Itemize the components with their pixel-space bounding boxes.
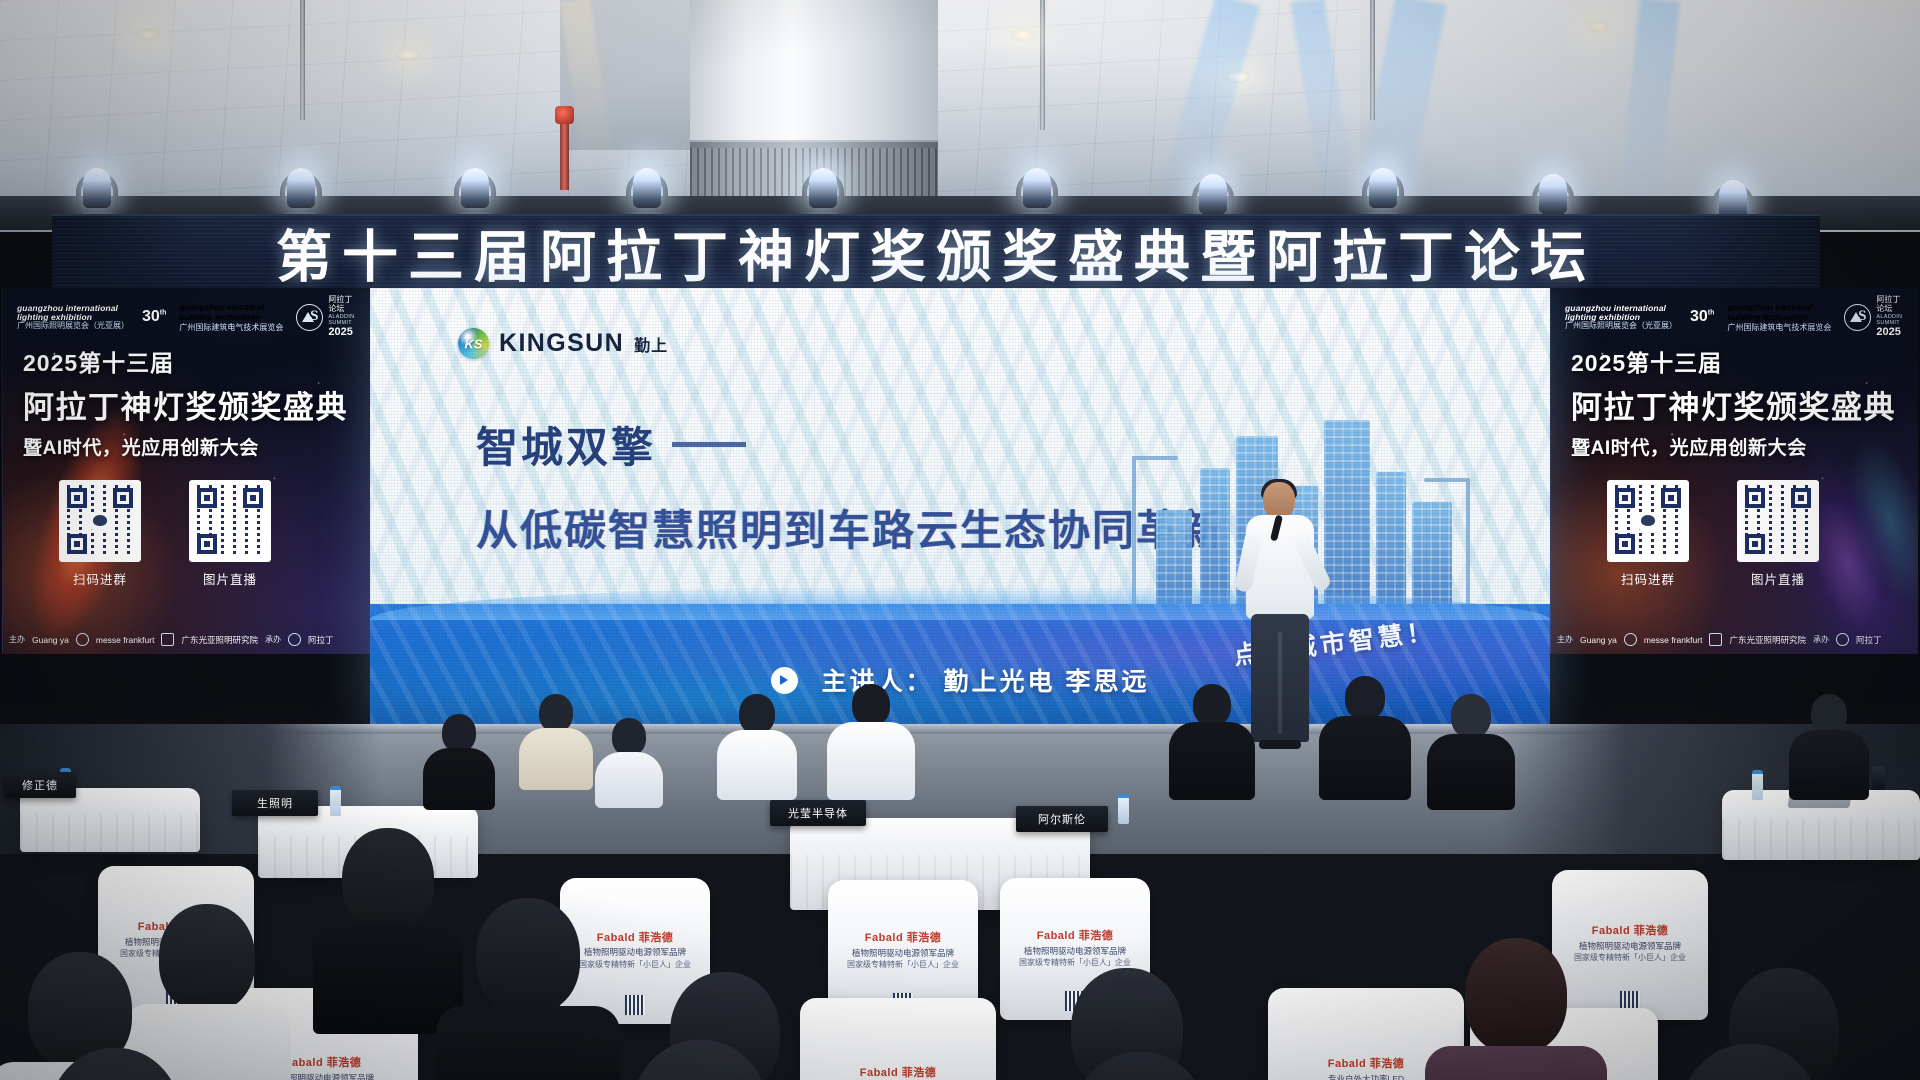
person-head <box>1465 938 1567 1054</box>
person-torso <box>827 722 915 800</box>
audience-person <box>1650 1044 1850 1080</box>
person-torso <box>423 748 495 810</box>
audience-person <box>1790 694 1868 802</box>
audience-person <box>718 694 796 802</box>
ceiling-downlight <box>135 28 161 41</box>
qr-code-row: 扫码进群 图片直播 <box>59 480 271 588</box>
person-head <box>1451 694 1491 738</box>
chair-cover-text: Fabald 菲浩德 植物照明驱动电源领军品牌 国家级专精特新「小巨人」企业 <box>816 1066 981 1080</box>
aladdin-summit-logo: 阿拉丁论坛 ALADDIN SUMMIT 2025 <box>1844 296 1908 338</box>
ceiling-downlight <box>1225 70 1251 83</box>
side-banner-headline: 2025第十三届 阿拉丁神灯奖颁奖盛典 暨AI时代，光应用创新大会 <box>23 344 358 460</box>
building-shape <box>1412 502 1452 606</box>
aladdin-summit-logo: 阿拉丁论坛 ALADDIN SUMMIT 2025 <box>296 296 360 338</box>
chair-cover-text: Fabald 菲浩德 植物照明驱动电源领军品牌 国家级专精特新「小巨人」企业 <box>840 931 966 971</box>
person-head <box>159 904 255 1012</box>
slide-title-line1-row: 智城双擎 <box>476 414 1376 475</box>
person-head <box>630 1040 770 1080</box>
qr-code-row: 扫码进群 图片直播 <box>1607 480 1819 588</box>
banner-footer-sponsors: 主办 Guang ya messe frankfurt 广东光亚照明研究院 承办… <box>9 633 364 646</box>
banner-edge-shade <box>1680 216 1820 290</box>
wechat-qr-icon[interactable] <box>59 480 141 562</box>
gebt-logo: guangzhou electrical building technology… <box>1727 302 1831 333</box>
ceiling-downlight <box>1585 20 1611 33</box>
host-label: 主办 <box>9 634 25 645</box>
banner-year-line: 2025第十三届 <box>1571 344 1906 378</box>
aladdin-icon <box>288 633 301 646</box>
qr-code-group[interactable]: 图片直播 <box>1737 480 1819 588</box>
person-torso <box>519 728 593 790</box>
chair-cover-text: Fabald 菲浩德 专业户外大功率LED 植物照明驱动电源解决方案 <box>1284 1057 1449 1080</box>
qr-caption: 扫码进群 <box>59 569 141 588</box>
banner-sub-line: 暨AI时代，光应用创新大会 <box>23 433 358 460</box>
audience-person <box>596 718 662 804</box>
person-torso <box>717 730 797 800</box>
wave-divider <box>370 586 1550 620</box>
host-org: 广东光亚照明研究院 <box>1729 634 1806 646</box>
water-bottle <box>1118 794 1129 824</box>
gil-logo: guangzhou international lighting exhibit… <box>17 304 129 331</box>
person-head <box>739 694 775 734</box>
livephoto-qr-icon[interactable] <box>189 480 271 562</box>
person-head <box>342 828 434 932</box>
organizer-org: 阿拉丁 <box>308 634 334 646</box>
banner-year-line: 2025第十三届 <box>23 344 358 378</box>
institute-icon <box>1709 633 1722 646</box>
person-head <box>1193 684 1231 726</box>
qr-caption: 扫码进群 <box>1607 569 1689 588</box>
ceiling-downlight <box>395 48 421 61</box>
host-org: messe frankfurt <box>1644 635 1703 645</box>
photo-scene: 第十三届阿拉丁神灯奖颁奖盛典暨阿拉丁论坛 guangzhou internati… <box>0 0 1920 1080</box>
audience-person <box>1428 694 1514 810</box>
person-torso <box>436 1006 620 1080</box>
qr-caption: 图片直播 <box>189 569 271 588</box>
audience-person <box>448 898 608 1080</box>
side-banner-right: guangzhou international lighting exhibit… <box>1550 288 1918 654</box>
person-torso <box>1425 1046 1607 1080</box>
hanger-rod <box>1040 0 1045 130</box>
anniversary-badge: 30th <box>1690 308 1714 326</box>
banner-edge-shade <box>52 216 192 290</box>
building-shape <box>1376 472 1406 606</box>
hanger-rod <box>1370 0 1375 120</box>
banner-main-line: 阿拉丁神灯奖颁奖盛典 <box>1571 382 1906 427</box>
person-torso <box>1169 722 1255 800</box>
person-head <box>476 898 580 1014</box>
audience-person <box>1320 676 1410 802</box>
person-torso <box>1319 716 1411 800</box>
audience-person <box>318 828 458 1018</box>
play-arrow-icon <box>771 667 798 694</box>
mobile-phone <box>1872 766 1885 790</box>
person-torso <box>1789 730 1869 800</box>
host-label: 主办 <box>1557 634 1573 645</box>
person-head <box>1345 676 1385 720</box>
table-nameplate: 生照明 <box>232 790 318 816</box>
anniversary-badge: 30th <box>142 308 166 326</box>
water-bottle <box>1752 770 1763 800</box>
host-org: messe frankfurt <box>96 635 155 645</box>
audience-person <box>1040 1052 1240 1080</box>
qr-code-group[interactable]: 扫码进群 <box>1607 480 1689 588</box>
audience-person <box>424 714 494 806</box>
banner-sub-line: 暨AI时代，光应用创新大会 <box>1571 433 1906 460</box>
banner-main-line: 阿拉丁神灯奖颁奖盛典 <box>23 382 358 427</box>
audience-person <box>828 684 914 802</box>
aladdin-summit-mark-icon <box>1844 304 1871 331</box>
presenter-head <box>1263 482 1295 518</box>
stage-header-banner: 第十三届阿拉丁神灯奖颁奖盛典暨阿拉丁论坛 <box>52 214 1820 290</box>
table-nameplate: 修正德 <box>4 772 76 798</box>
person-head <box>1678 1044 1822 1080</box>
person-torso <box>595 752 663 808</box>
person-head <box>47 1048 183 1080</box>
audience-person <box>1170 684 1254 802</box>
person-head <box>1070 1052 1210 1080</box>
kingsun-wordmark: KINGSUN <box>499 329 624 358</box>
person-head <box>539 694 573 732</box>
gebt-logo: guangzhou electrical building technology… <box>179 302 283 333</box>
table-nameplate: 光莹半导体 <box>770 800 866 826</box>
sprinkler-pipe <box>560 120 569 190</box>
person-head <box>1811 694 1847 734</box>
header-banner-title: 第十三届阿拉丁神灯奖颁奖盛典暨阿拉丁论坛 <box>52 214 1820 290</box>
kingsun-chinese-name: 勤上 <box>634 332 668 356</box>
qr-caption: 图片直播 <box>1737 569 1819 588</box>
audience-person <box>520 694 592 790</box>
ceiling-duct <box>560 0 696 150</box>
aladdin-icon <box>1836 633 1849 646</box>
institute-icon <box>161 633 174 646</box>
side-banner-left: guangzhou international lighting exhibit… <box>2 288 370 654</box>
exhibition-logo-row: guangzhou international lighting exhibit… <box>1565 300 1908 334</box>
banner-footer-sponsors: 主办 Guang ya messe frankfurt 广东光亚照明研究院 承办… <box>1557 633 1912 646</box>
host-org: 广东光亚照明研究院 <box>181 634 258 646</box>
audience-person <box>600 1040 800 1080</box>
audience-person <box>1438 938 1594 1080</box>
chair-cover: Fabald 菲浩德 植物照明驱动电源领军品牌 国家级专精特新「小巨人」企业 <box>800 998 996 1080</box>
water-bottle <box>330 786 341 816</box>
qr-code-group[interactable]: 扫码进群 <box>59 480 141 588</box>
person-head <box>612 718 646 756</box>
side-banner-headline: 2025第十三届 阿拉丁神灯奖颁奖盛典 暨AI时代，光应用创新大会 <box>1571 344 1906 460</box>
table-nameplate: 阿尔斯伦 <box>1016 806 1108 832</box>
gil-logo: guangzhou international lighting exhibit… <box>1565 304 1677 331</box>
messe-frankfurt-icon <box>76 633 89 646</box>
title-dash-icon <box>672 442 746 447</box>
wechat-qr-icon[interactable] <box>1607 480 1689 562</box>
audience-area: 修正德 生照明 光莹半导体 阿尔斯伦 <box>0 700 1920 1080</box>
exhibition-logo-row: guangzhou international lighting exhibit… <box>17 300 360 334</box>
kingsun-logo: KINGSUN 勤上 <box>458 328 668 359</box>
aladdin-summit-mark-icon <box>296 304 323 331</box>
host-org: Guang ya <box>32 635 69 645</box>
person-torso <box>1427 734 1515 810</box>
street-light-icon <box>1466 478 1470 606</box>
organizer-org: 阿拉丁 <box>1856 634 1882 646</box>
kingsun-orb-icon <box>458 328 489 359</box>
chair-cover-text: Fabald 菲浩德 植物照明驱动电源领军品牌 国家级专精特新「小巨人」企业 <box>1012 929 1138 969</box>
audience-person <box>20 1048 210 1080</box>
organizer-label: 承办 <box>1813 634 1829 645</box>
main-led-screen: KINGSUN 勤上 智城双擎 从低碳智慧照明到车路云生态协同革新 点亮城市智 <box>370 288 1550 724</box>
ceiling-downlight <box>1010 28 1036 41</box>
slide-title-line1: 智城双擎 <box>476 414 656 475</box>
qr-code-group[interactable]: 图片直播 <box>189 480 271 588</box>
person-head <box>442 714 476 752</box>
person-head <box>852 684 890 726</box>
host-org: Guang ya <box>1580 635 1617 645</box>
livephoto-qr-icon[interactable] <box>1737 480 1819 562</box>
organizer-label: 承办 <box>265 634 281 645</box>
hanger-rod <box>300 0 305 120</box>
messe-frankfurt-icon <box>1624 633 1637 646</box>
